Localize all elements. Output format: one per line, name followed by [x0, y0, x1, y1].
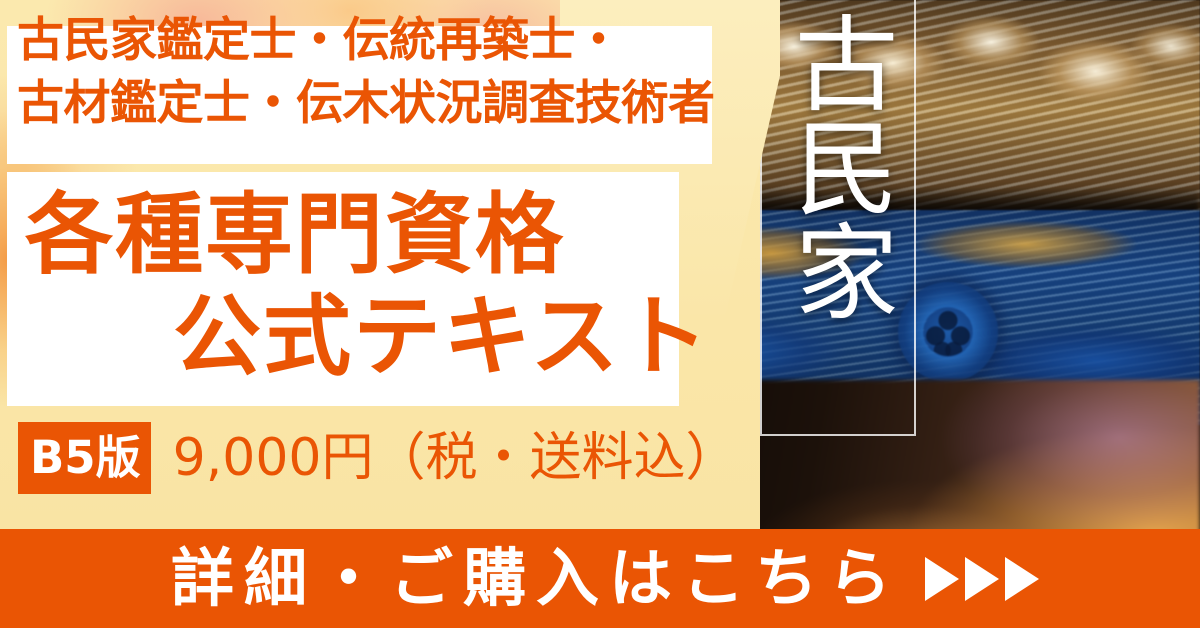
chevron-right-icon — [965, 557, 999, 601]
chevron-right-icon — [1005, 557, 1039, 601]
family-crest-medallion — [898, 282, 998, 382]
heading-line-2: 古材鑑定士・伝木状況調査技術者 — [17, 73, 707, 136]
price-row: B5版 9,000円（税・送料込） — [18, 422, 738, 494]
format-badge: B5版 — [18, 422, 151, 494]
cta-bar[interactable]: 詳細・ご購入はこちら — [0, 529, 1200, 628]
cta-label: 詳細・ご購入はこちら — [161, 547, 901, 610]
headline-line-2: 公式テキスト — [173, 288, 710, 387]
headline-card: 各種専門資格 公式テキスト — [7, 172, 679, 406]
heading-line-1: 古民家鑑定士・伝統再築士・ — [17, 10, 707, 73]
promo-banner: 古民家 伝統構法、古民家活用のための調査と再生の 古民家鑑定士・伝統再築士・ 古… — [0, 0, 1200, 628]
book-cover-title: 古民家 — [778, 10, 898, 322]
headline-line-1: 各種専門資格 — [25, 186, 565, 285]
price-amount: 9,000円（税・送料込） — [173, 432, 738, 484]
cta-arrows — [925, 557, 1039, 601]
chevron-right-icon — [925, 557, 959, 601]
